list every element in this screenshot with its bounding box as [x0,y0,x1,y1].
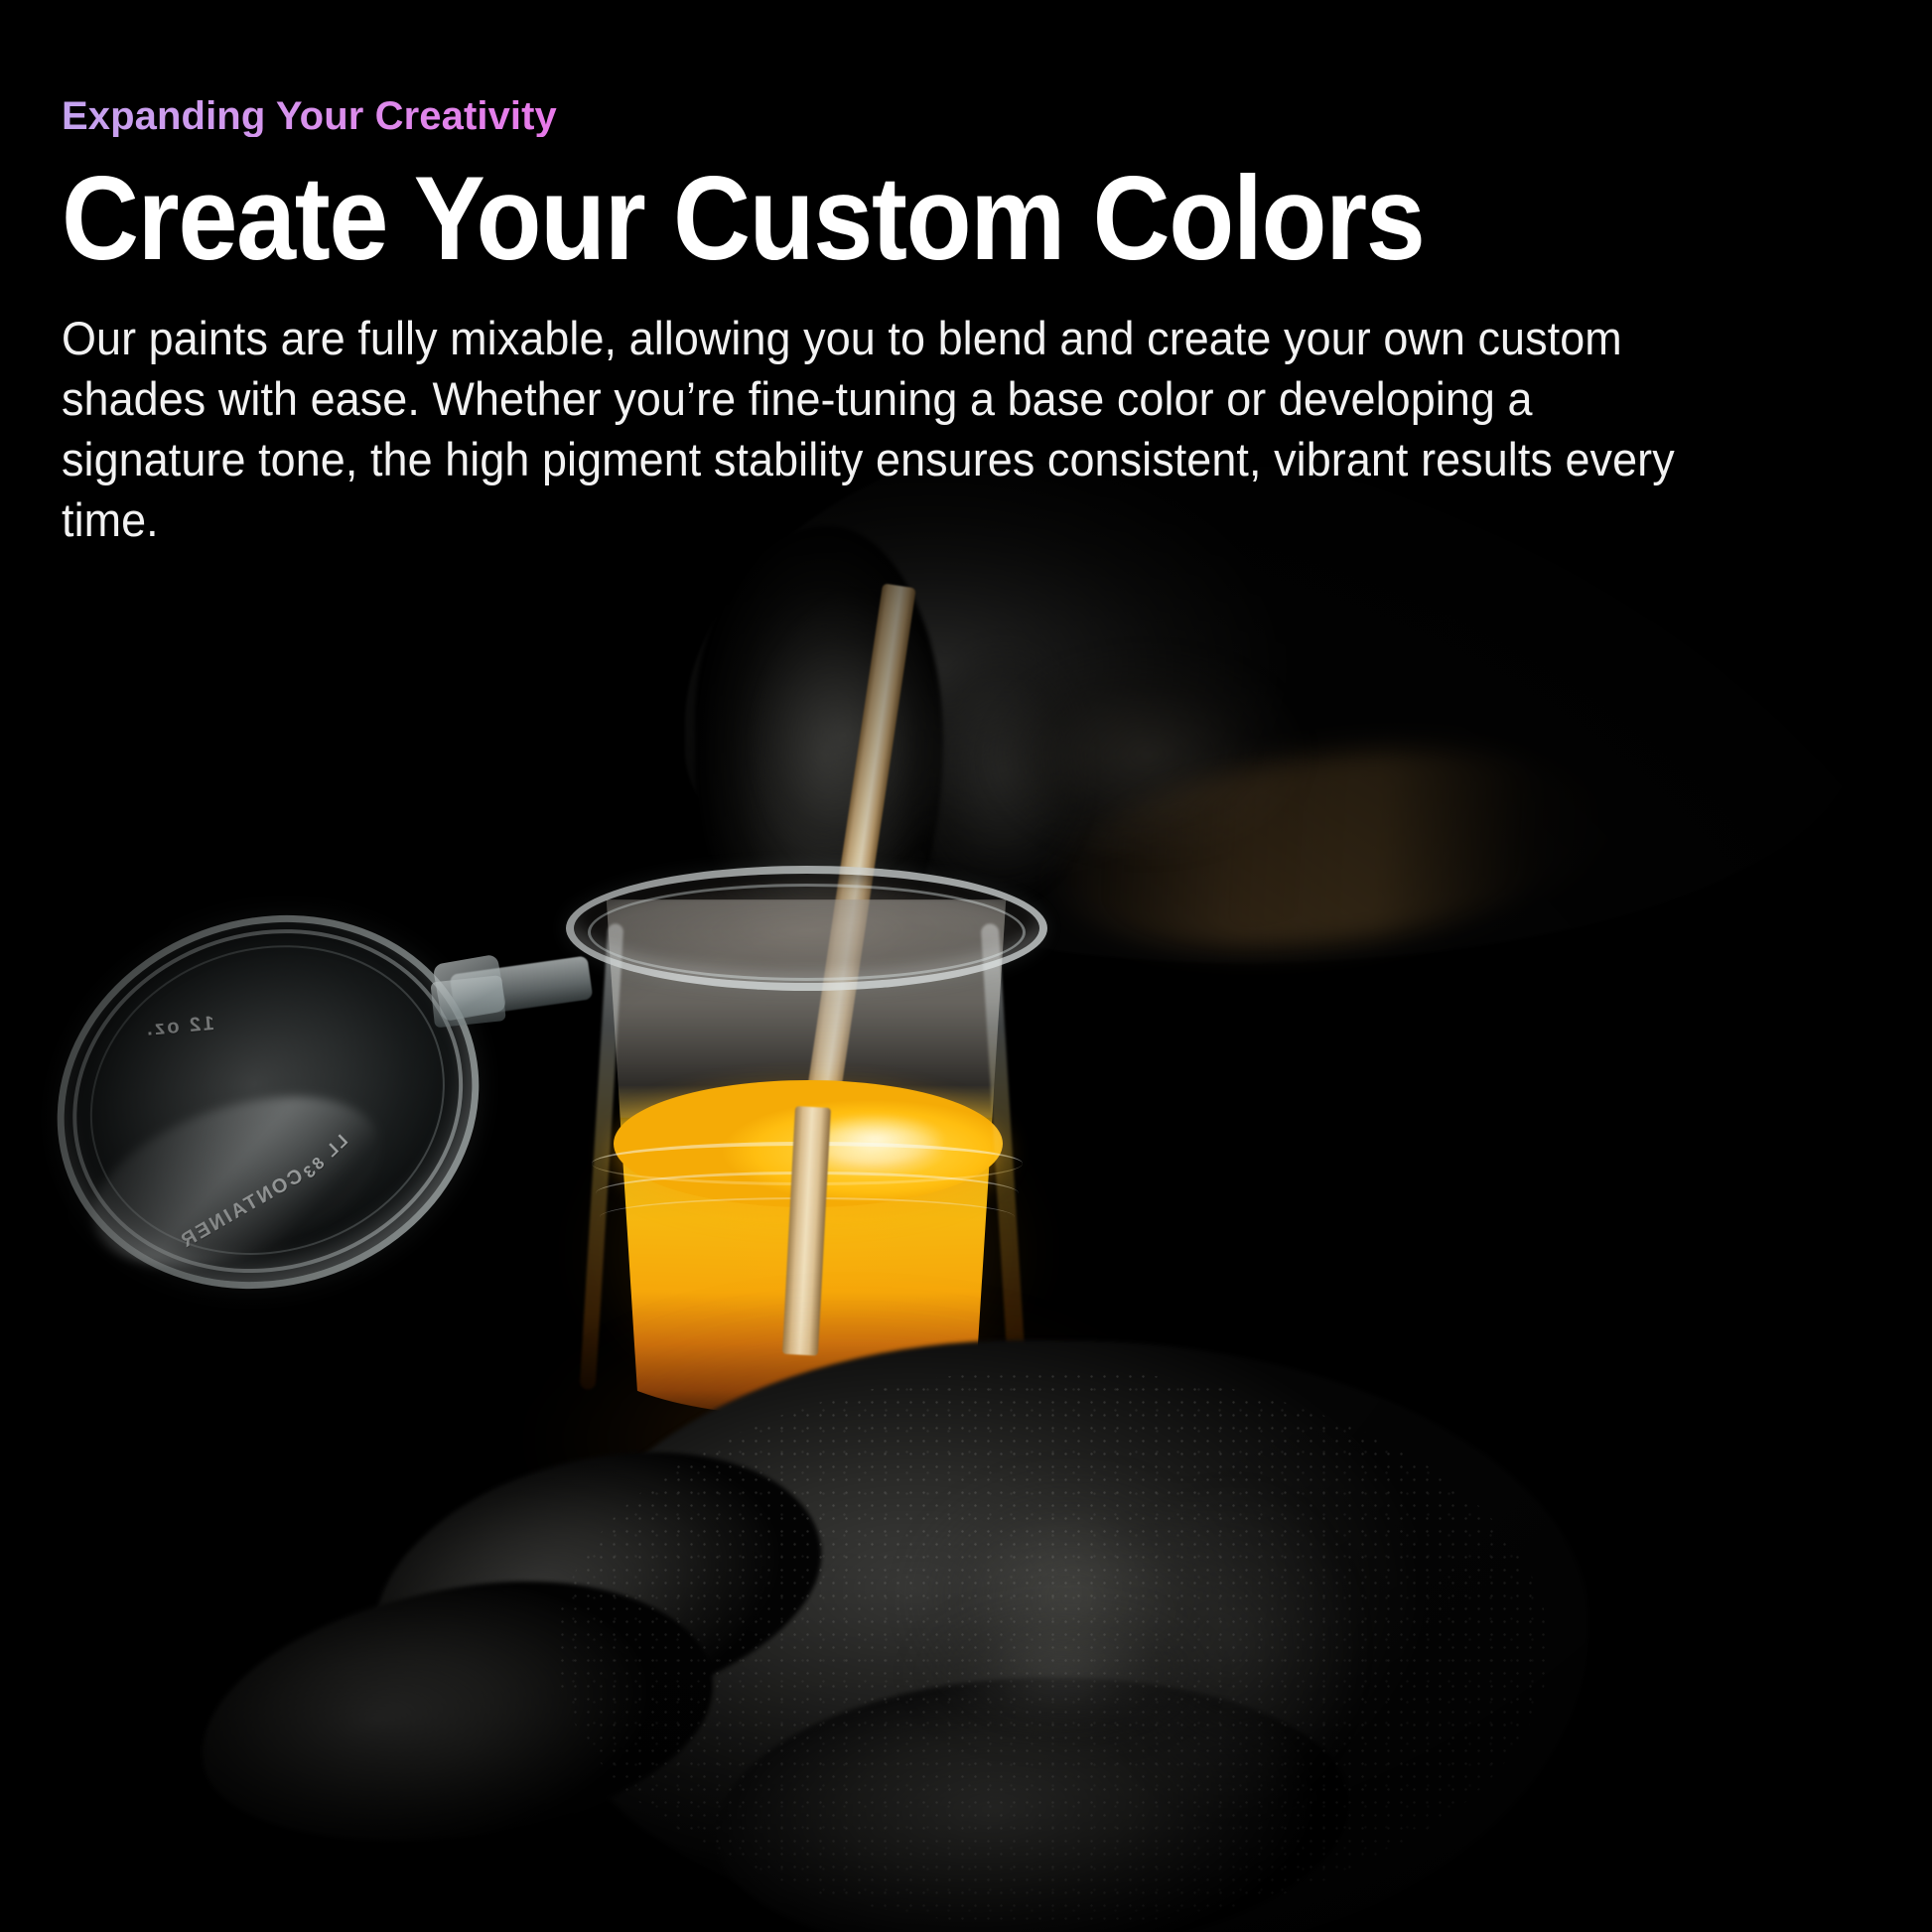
text-block: Expanding Your Creativity Create Your Cu… [62,95,1749,550]
cup-rim-inner-ring [588,884,1026,981]
glove-texture-speckle [556,1370,1549,1926]
lid-hinge-tab [432,954,506,1023]
bottom-gloved-hand [179,1162,1668,1932]
product-photo: 12 oz. CONTAINER LL 83 [0,467,1932,1932]
poster-canvas: 12 oz. CONTAINER LL 83 [0,0,1932,1932]
body-paragraph: Our paints are fully mixable, allowing y… [62,308,1712,550]
eyebrow-label: Expanding Your Creativity [62,95,557,137]
page-title: Create Your Custom Colors [62,159,1581,278]
